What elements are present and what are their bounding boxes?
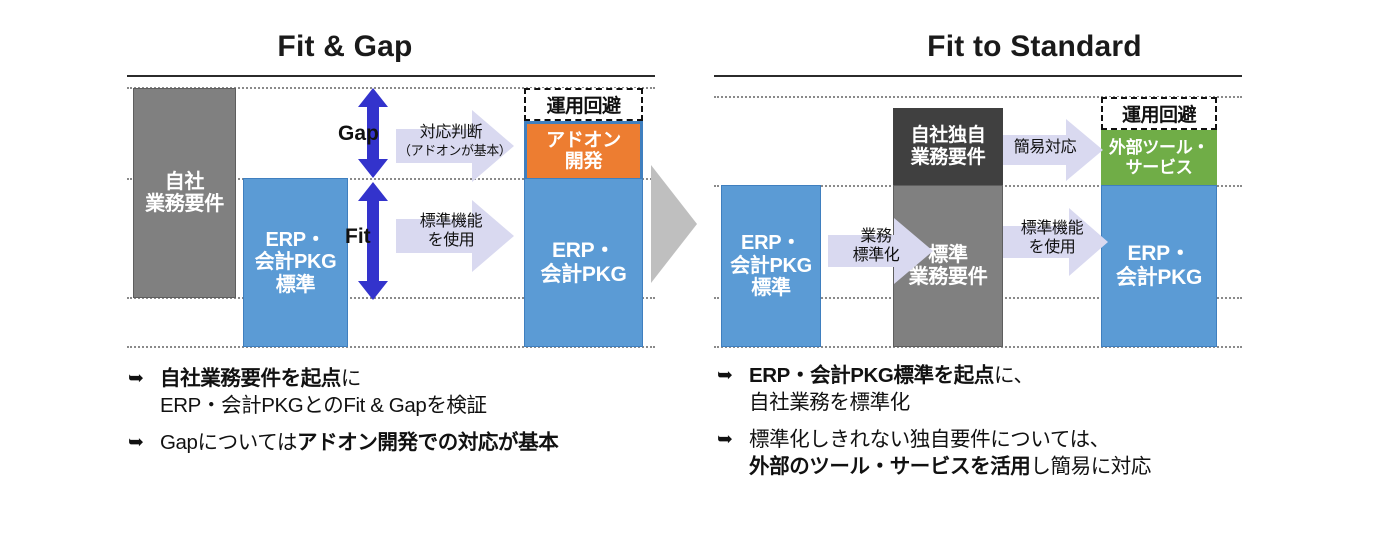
bullet-line2: 自社業務を標準化 <box>749 389 1315 416</box>
decision-arrow-label-main: 対応判断 <box>420 124 482 141</box>
transition-arrow-icon <box>651 165 703 283</box>
gap-label: Gap <box>338 122 379 146</box>
chevron-bullet-icon: ➥ <box>128 430 144 455</box>
block-erp-standard-left-line2: 会計PKG <box>255 251 337 273</box>
standard-function-arrow-left-label-main: 標準機能 <box>420 213 482 230</box>
block-own-requirements: 自社 業務要件 <box>133 88 236 298</box>
bullet-list-right: ➥ ERP・会計PKG標準を起点に、 自社業務を標準化 ➥ 標準化しきれない独自… <box>715 362 1315 490</box>
decision-arrow-label: 対応判断 （アドオンが基本） <box>398 124 504 158</box>
chevron-bullet-icon: ➥ <box>717 363 733 388</box>
block-own-requirements-line1: 自社 <box>165 171 204 193</box>
block-result-erp-right: ERP・ 会計PKG <box>1101 185 1217 347</box>
bullet-plain-lead: 標準化しきれない独自要件については、 <box>749 426 1315 453</box>
block-unique-requirements: 自社独自 業務要件 <box>893 108 1003 185</box>
panel-title-left: Fit & Gap <box>0 32 690 62</box>
bullet-item: ➥ 自社業務要件を起点に ERP・会計PKGとのFit & Gapを検証 <box>126 365 686 419</box>
fit-label: Fit <box>345 225 371 249</box>
panel-fit-to-standard: Fit to Standard ERP・ 会計PKG 標準 業務 標準化 自社独… <box>690 0 1379 540</box>
block-result-erp-left-line2: 会計PKG <box>540 263 626 287</box>
block-result-erp-right-line2: 会計PKG <box>1116 266 1202 290</box>
bullet-bold-tail: 外部のツール・サービスを活用 <box>749 455 1030 478</box>
block-standard-requirements-line1: 標準 <box>928 244 967 266</box>
block-erp-standard-right-line3: 標準 <box>751 277 790 299</box>
block-external-tool-line1: 外部ツール・ <box>1109 138 1209 157</box>
decision-arrow-label-sub: （アドオンが基本） <box>398 143 504 158</box>
simple-response-arrow-label: 簡易対応 <box>1006 139 1084 158</box>
chevron-bullet-icon: ➥ <box>128 366 144 391</box>
standard-function-arrow-right-label-sub: を使用 <box>1004 239 1100 258</box>
block-result-erp-left: ERP・ 会計PKG <box>524 178 643 347</box>
bullet-list-left: ➥ 自社業務要件を起点に ERP・会計PKGとのFit & Gapを検証 ➥ G… <box>126 365 686 466</box>
block-external-tool-line2: サービス <box>1126 158 1193 177</box>
simple-response-arrow-label-main: 簡易対応 <box>1014 139 1076 156</box>
block-erp-standard-left-line3: 標準 <box>276 274 315 296</box>
standard-function-arrow-right-label-main: 標準機能 <box>1021 220 1083 237</box>
business-standardization-arrow-label-sub: 標準化 <box>830 247 922 266</box>
callout-operational-avoidance-right: 運用回避 <box>1101 97 1217 130</box>
chevron-bullet-icon: ➥ <box>717 427 733 452</box>
panel-fit-and-gap: Fit & Gap 自社 業務要件 ERP・ 会計PKG 標準 Gap Fit … <box>0 0 690 540</box>
bullet-item: ➥ Gapについてはアドオン開発での対応が基本 <box>126 429 686 456</box>
panel-title-right: Fit to Standard <box>690 32 1379 62</box>
business-standardization-arrow-label: 業務 標準化 <box>830 228 922 266</box>
standard-function-arrow-left-label: 標準機能 を使用 <box>400 213 502 251</box>
bullet-item: ➥ 標準化しきれない独自要件については、 外部のツール・サービスを活用し簡易に対… <box>715 426 1315 480</box>
bullet-item: ➥ ERP・会計PKG標準を起点に、 自社業務を標準化 <box>715 362 1315 416</box>
standard-function-arrow-left-label-sub: を使用 <box>400 232 502 251</box>
bullet-tail: に <box>341 367 361 390</box>
block-addon-development-line2: 開発 <box>565 151 602 172</box>
bullet-bold-lead: 自社業務要件を起点 <box>160 367 341 390</box>
block-result-erp-right-line1: ERP・ <box>1128 242 1191 266</box>
block-erp-standard-left: ERP・ 会計PKG 標準 <box>243 178 348 347</box>
block-result-erp-left-line1: ERP・ <box>552 239 615 263</box>
title-underline-left <box>127 75 655 77</box>
bullet-tail: に、 <box>994 364 1034 387</box>
business-standardization-arrow-label-main: 業務 <box>860 228 891 245</box>
standard-function-arrow-right-label: 標準機能 を使用 <box>1004 220 1100 258</box>
block-unique-requirements-line2: 業務要件 <box>911 147 986 168</box>
bullet-bold-tail: アドオン開発での対応が基本 <box>297 431 558 454</box>
block-erp-standard-right: ERP・ 会計PKG 標準 <box>721 185 821 347</box>
callout-operational-avoidance-left: 運用回避 <box>524 88 643 121</box>
block-external-tool: 外部ツール・ サービス <box>1101 130 1217 185</box>
bullet-bold-lead: ERP・会計PKG標準を起点 <box>749 364 994 387</box>
bullet-line2: ERP・会計PKGとのFit & Gapを検証 <box>160 392 686 419</box>
bullet-plain-lead: Gapについては <box>160 431 297 454</box>
block-erp-standard-left-line1: ERP・ <box>266 229 326 251</box>
block-addon-development: アドオン 開発 <box>524 121 643 178</box>
title-underline-right <box>714 75 1242 77</box>
bullet-tail2: し簡易に対応 <box>1030 455 1151 478</box>
block-own-requirements-line2: 業務要件 <box>145 193 224 215</box>
block-addon-development-line1: アドオン <box>546 130 621 151</box>
block-unique-requirements-line1: 自社独自 <box>911 125 986 146</box>
block-erp-standard-right-line2: 会計PKG <box>730 255 812 277</box>
block-erp-standard-right-line1: ERP・ <box>741 232 801 254</box>
